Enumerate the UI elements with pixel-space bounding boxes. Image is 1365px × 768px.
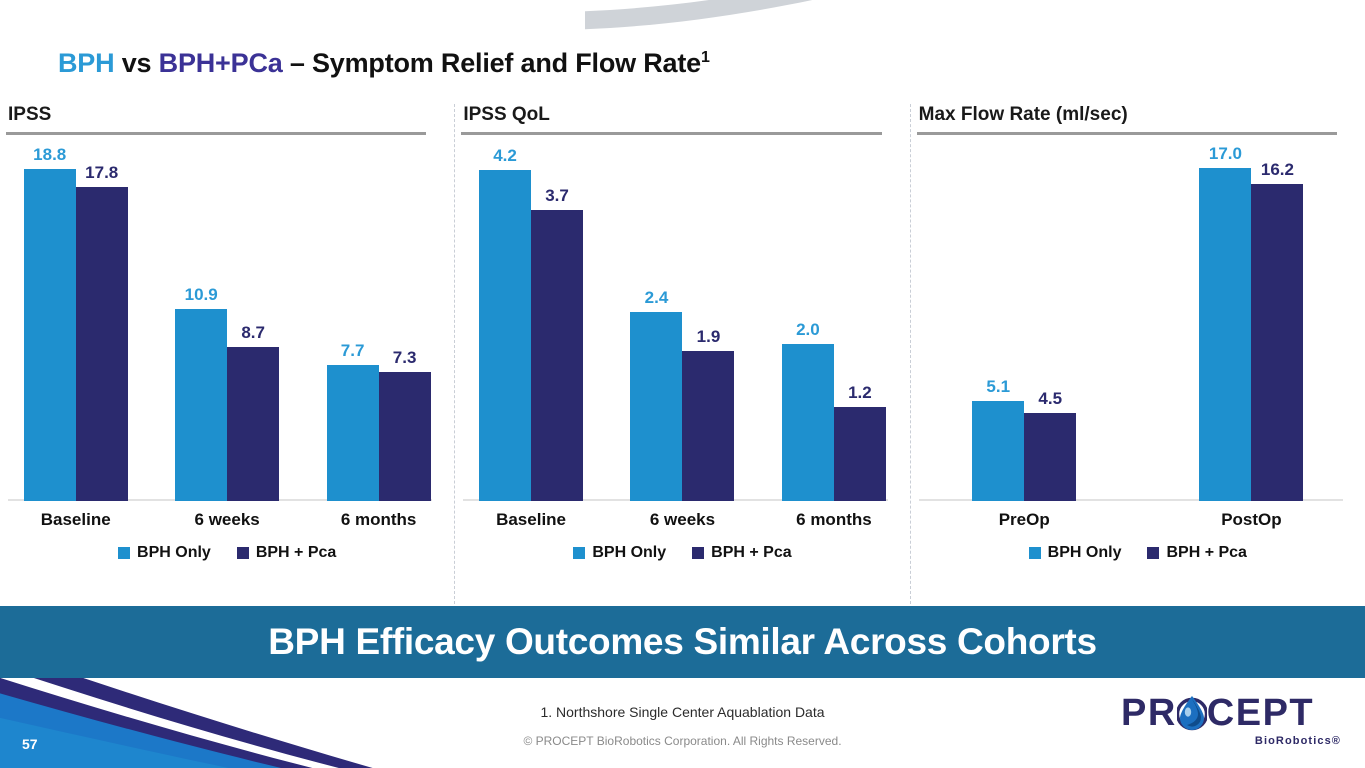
bar-value-label: 4.2 bbox=[493, 146, 517, 166]
bar-value-label: 7.3 bbox=[393, 348, 417, 368]
x-axis-labels: PreOpPostOp bbox=[911, 510, 1365, 530]
page-title: BPH vs BPH+PCa – Symptom Relief and Flow… bbox=[58, 48, 710, 79]
logo-subtitle: BioRobotics® bbox=[1121, 735, 1343, 747]
bar-pair: 17.016.2 bbox=[1199, 139, 1303, 501]
bar-value-label: 8.7 bbox=[241, 323, 265, 343]
chart-legend-ipss: BPH Only BPH + Pca bbox=[0, 544, 454, 562]
bar-pair: 5.14.5 bbox=[972, 139, 1076, 501]
legend-swatch-icon-blue bbox=[573, 547, 585, 559]
title-segment-bph: BPH bbox=[58, 48, 114, 78]
bar bbox=[175, 309, 227, 501]
bar-group: 2.01.2 bbox=[758, 139, 909, 501]
bar bbox=[682, 351, 734, 501]
bar-column: 10.9 bbox=[175, 139, 227, 501]
logo-wordmark-post: CEPT bbox=[1207, 694, 1314, 732]
bar bbox=[24, 169, 76, 501]
bar-column: 5.1 bbox=[972, 139, 1024, 501]
bar bbox=[531, 210, 583, 501]
legend-label-bph-only: BPH Only bbox=[1048, 544, 1122, 562]
summary-banner-text: BPH Efficacy Outcomes Similar Across Coh… bbox=[268, 621, 1096, 663]
bar-pair: 10.98.7 bbox=[175, 139, 279, 501]
bar-pair: 18.817.8 bbox=[24, 139, 128, 501]
x-axis-label: Baseline bbox=[0, 510, 151, 530]
legend-label-bph-pca: BPH + Pca bbox=[711, 544, 791, 562]
legend-label-bph-only: BPH Only bbox=[137, 544, 211, 562]
charts-container: IPSS 18.817.810.98.77.77.3 Baseline6 wee… bbox=[0, 104, 1365, 604]
x-axis-label: PostOp bbox=[1138, 510, 1365, 530]
bar-pair: 4.23.7 bbox=[479, 139, 583, 501]
bar-value-label: 2.0 bbox=[796, 320, 820, 340]
legend-swatch-icon-blue bbox=[118, 547, 130, 559]
x-axis-label: 6 weeks bbox=[607, 510, 758, 530]
legend-item-bph-only: BPH Only bbox=[573, 544, 666, 562]
bar-value-label: 17.8 bbox=[85, 163, 118, 183]
plot-area-max-flow-rate: 5.14.517.016.2 bbox=[911, 139, 1365, 501]
legend-item-bph-only: BPH Only bbox=[1029, 544, 1122, 562]
bar-pair: 7.77.3 bbox=[327, 139, 431, 501]
plot-area-ipss-qol: 4.23.72.41.92.01.2 bbox=[455, 139, 909, 501]
bar-column: 2.0 bbox=[782, 139, 834, 501]
legend-item-bph-pca: BPH + Pca bbox=[237, 544, 336, 562]
bar-group: 17.016.2 bbox=[1138, 139, 1365, 501]
bar-group: 5.14.5 bbox=[911, 139, 1138, 501]
bar bbox=[76, 187, 128, 501]
logo-wordmark-pre: PR bbox=[1121, 694, 1177, 732]
bar-value-label: 7.7 bbox=[341, 341, 365, 361]
x-axis-labels: Baseline6 weeks6 months bbox=[0, 510, 454, 530]
bar bbox=[479, 170, 531, 501]
legend-label-bph-pca: BPH + Pca bbox=[256, 544, 336, 562]
legend-swatch-icon-navy bbox=[692, 547, 704, 559]
bar-column: 2.4 bbox=[630, 139, 682, 501]
x-axis-label: PreOp bbox=[911, 510, 1138, 530]
bar bbox=[972, 401, 1024, 501]
chart-legend-max-flow-rate: BPH Only BPH + Pca bbox=[911, 544, 1365, 562]
legend-swatch-icon-navy bbox=[237, 547, 249, 559]
bar-groups: 18.817.810.98.77.77.3 bbox=[0, 139, 454, 501]
bar-value-label: 1.2 bbox=[848, 383, 872, 403]
bar bbox=[630, 312, 682, 501]
title-segment-rest: – Symptom Relief and Flow Rate bbox=[283, 48, 701, 78]
bar-groups: 4.23.72.41.92.01.2 bbox=[455, 139, 909, 501]
bar-column: 8.7 bbox=[227, 139, 279, 501]
bar-pair: 2.01.2 bbox=[782, 139, 886, 501]
legend-swatch-icon-navy bbox=[1147, 547, 1159, 559]
chart-title-rule bbox=[461, 132, 881, 135]
bar-column: 7.3 bbox=[379, 139, 431, 501]
x-axis-label: 6 weeks bbox=[151, 510, 302, 530]
bar-value-label: 5.1 bbox=[986, 377, 1010, 397]
chart-panel-ipss: IPSS 18.817.810.98.77.77.3 Baseline6 wee… bbox=[0, 104, 454, 604]
bar bbox=[227, 347, 279, 501]
slide: 57 BPH vs BPH+PCa – Symptom Relief and F… bbox=[0, 0, 1365, 768]
bar-column: 1.9 bbox=[682, 139, 734, 501]
bar-value-label: 17.0 bbox=[1209, 144, 1242, 164]
bar-column: 3.7 bbox=[531, 139, 583, 501]
bar-value-label: 16.2 bbox=[1261, 160, 1294, 180]
summary-banner: BPH Efficacy Outcomes Similar Across Coh… bbox=[0, 606, 1365, 678]
x-axis-labels: Baseline6 weeks6 months bbox=[455, 510, 909, 530]
bar bbox=[1024, 413, 1076, 501]
logo-wordmark: PR CEPT bbox=[1121, 694, 1343, 732]
bar-group: 4.23.7 bbox=[455, 139, 606, 501]
procept-logo: PR CEPT BioRobotics® bbox=[1121, 694, 1343, 760]
x-axis-label: 6 months bbox=[303, 510, 454, 530]
bar-group: 10.98.7 bbox=[151, 139, 302, 501]
bar-group: 7.77.3 bbox=[303, 139, 454, 501]
bar-column: 1.2 bbox=[834, 139, 886, 501]
chart-title-rule bbox=[917, 132, 1337, 135]
bar-column: 17.0 bbox=[1199, 139, 1251, 501]
x-axis-label: Baseline bbox=[455, 510, 606, 530]
bar-value-label: 1.9 bbox=[697, 327, 721, 347]
bar-column: 7.7 bbox=[327, 139, 379, 501]
plot-area-ipss: 18.817.810.98.77.77.3 bbox=[0, 139, 454, 501]
bar-group: 2.41.9 bbox=[607, 139, 758, 501]
bar bbox=[1199, 168, 1251, 501]
bar-column: 17.8 bbox=[76, 139, 128, 501]
slide-number: 57 bbox=[22, 736, 38, 752]
chart-legend-ipss-qol: BPH Only BPH + Pca bbox=[455, 544, 909, 562]
bar-value-label: 3.7 bbox=[545, 186, 569, 206]
title-segment-vs: vs bbox=[114, 48, 158, 78]
chart-panel-max-flow-rate: Max Flow Rate (ml/sec) 5.14.517.016.2 Pr… bbox=[910, 104, 1365, 604]
bar-value-label: 10.9 bbox=[185, 285, 218, 305]
legend-item-bph-only: BPH Only bbox=[118, 544, 211, 562]
bar-column: 18.8 bbox=[24, 139, 76, 501]
bar-pair: 2.41.9 bbox=[630, 139, 734, 501]
title-segment-pca: BPH+PCa bbox=[159, 48, 283, 78]
bar bbox=[782, 344, 834, 501]
bar bbox=[379, 372, 431, 501]
bar bbox=[327, 365, 379, 501]
water-drop-icon bbox=[1177, 694, 1207, 732]
bar-value-label: 2.4 bbox=[645, 288, 669, 308]
bar-value-label: 4.5 bbox=[1038, 389, 1062, 409]
bar-column: 4.2 bbox=[479, 139, 531, 501]
bar bbox=[1251, 184, 1303, 501]
chart-panel-ipss-qol: IPSS QoL 4.23.72.41.92.01.2 Baseline6 we… bbox=[454, 104, 909, 604]
legend-swatch-icon-blue bbox=[1029, 547, 1041, 559]
bar-groups: 5.14.517.016.2 bbox=[911, 139, 1365, 501]
bar-value-label: 18.8 bbox=[33, 145, 66, 165]
bar-group: 18.817.8 bbox=[0, 139, 151, 501]
chart-title-max-flow-rate: Max Flow Rate (ml/sec) bbox=[911, 104, 1365, 126]
chart-title-ipss: IPSS bbox=[0, 104, 454, 126]
bar bbox=[834, 407, 886, 501]
x-axis-label: 6 months bbox=[758, 510, 909, 530]
legend-label-bph-only: BPH Only bbox=[592, 544, 666, 562]
title-superscript: 1 bbox=[701, 49, 710, 66]
legend-label-bph-pca: BPH + Pca bbox=[1166, 544, 1246, 562]
bar-column: 16.2 bbox=[1251, 139, 1303, 501]
chart-title-ipss-qol: IPSS QoL bbox=[455, 104, 909, 126]
bar-column: 4.5 bbox=[1024, 139, 1076, 501]
chart-title-rule bbox=[6, 132, 426, 135]
legend-item-bph-pca: BPH + Pca bbox=[692, 544, 791, 562]
legend-item-bph-pca: BPH + Pca bbox=[1147, 544, 1246, 562]
